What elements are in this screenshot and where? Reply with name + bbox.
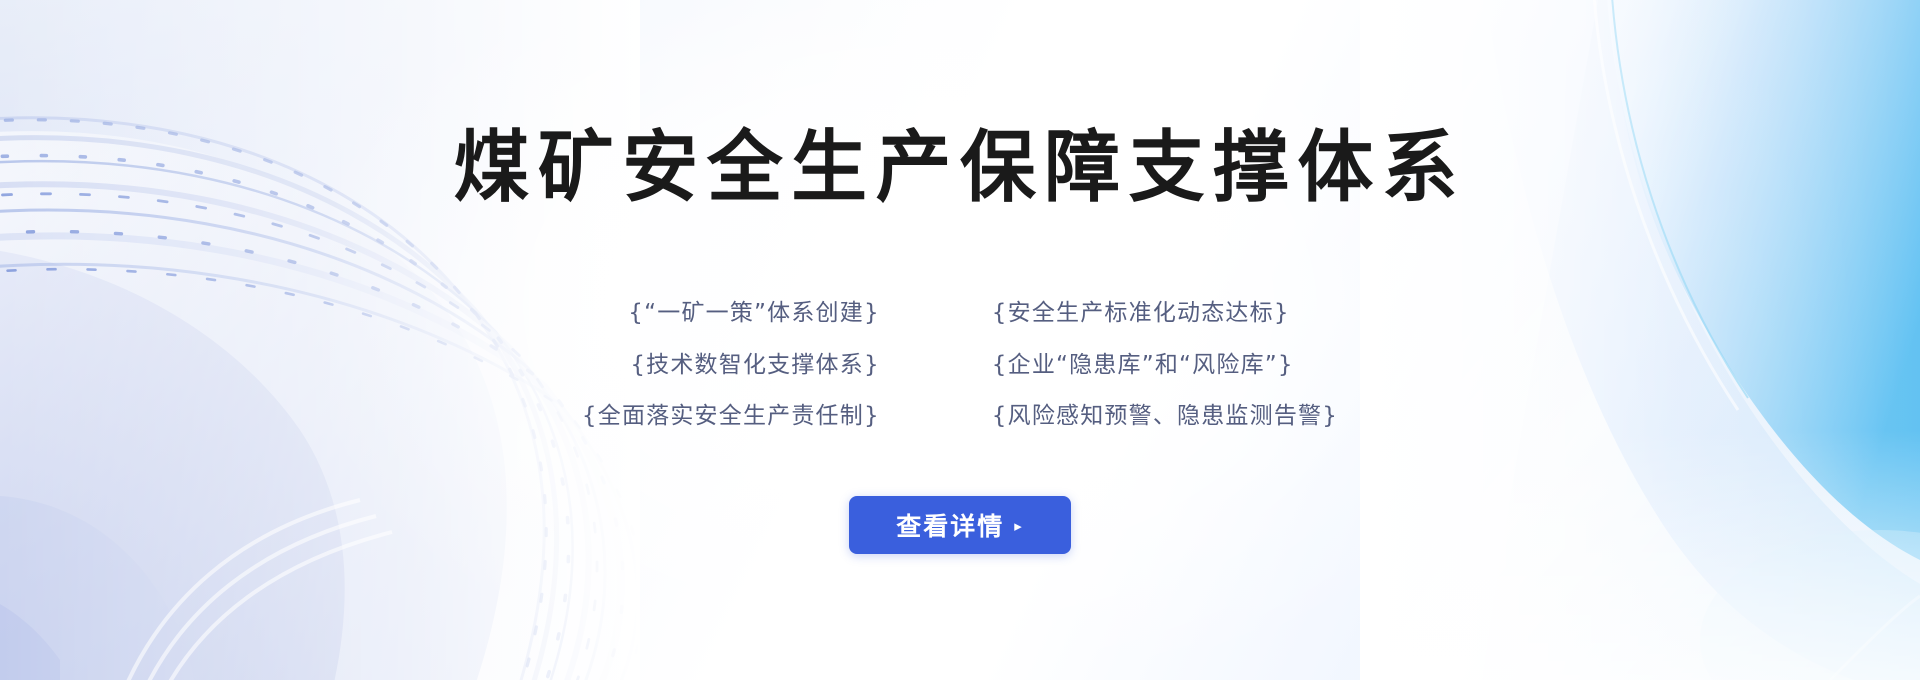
subtitle-item: {全面落实安全生产责任制}	[582, 397, 880, 437]
view-details-button[interactable]: 查看详情 ▸	[849, 496, 1071, 554]
subtitle-item: {技术数智化支撑体系}	[630, 346, 879, 386]
banner-content: 煤矿安全生产保障支撑体系 {“一矿一策”体系创建} {技术数智化支撑体系} {全…	[0, 0, 1920, 680]
subtitle-column-left: {“一矿一策”体系创建} {技术数智化支撑体系} {全面落实安全生产责任制}	[582, 294, 880, 437]
subtitle-grid: {“一矿一策”体系创建} {技术数智化支撑体系} {全面落实安全生产责任制} {…	[0, 294, 1920, 437]
cta-container: 查看详情 ▸	[0, 496, 1920, 554]
subtitle-column-right: {安全生产标准化动态达标} {企业“隐患库”和“风险库”} {风险感知预警、隐患…	[992, 294, 1338, 437]
subtitle-item: {企业“隐患库”和“风险库”}	[992, 346, 1294, 386]
subtitle-item: {“一矿一策”体系创建}	[628, 294, 880, 334]
play-arrow-icon: ▸	[1014, 519, 1024, 534]
page-title: 煤矿安全生产保障支撑体系	[29, 128, 1891, 210]
view-details-label: 查看详情	[896, 507, 1004, 543]
hero-banner: 煤矿安全生产保障支撑体系 {“一矿一策”体系创建} {技术数智化支撑体系} {全…	[0, 0, 1920, 680]
subtitle-item: {风险感知预警、隐患监测告警}	[992, 397, 1338, 437]
subtitle-item: {安全生产标准化动态达标}	[992, 294, 1290, 334]
